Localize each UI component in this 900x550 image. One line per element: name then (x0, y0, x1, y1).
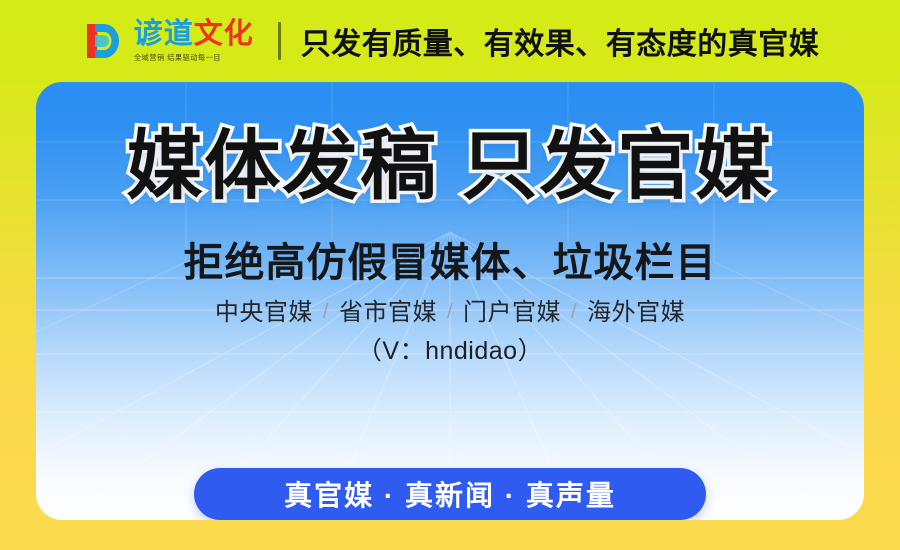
category-separator: / (571, 302, 577, 322)
media-category-item: 中央官媒 (215, 301, 313, 325)
media-category-item: 省市官媒 (339, 301, 437, 325)
hero-card: 媒体发稿 只发官媒 拒绝高仿假冒媒体、垃圾栏目 中央官媒 / 省市官媒 / 门户… (36, 82, 864, 520)
contact-handle: （V：hndidao） (357, 339, 543, 364)
logo-name-part1: 谚道 (134, 18, 194, 50)
brand-logo: 谚道文化 全域营销 结果驱动每一目 (81, 19, 254, 63)
page-title: 媒体发稿 只发官媒 (126, 129, 773, 205)
logo-company-name: 谚道文化 (134, 20, 254, 49)
media-category-list: 中央官媒 / 省市官媒 / 门户官媒 / 海外官媒 (215, 301, 685, 325)
media-category-item: 门户官媒 (463, 301, 561, 325)
cta-button-label: 真官媒 · 真新闻 · 真声量 (284, 474, 616, 514)
media-category-item: 海外官媒 (587, 301, 685, 325)
hero-content: 媒体发稿 只发官媒 拒绝高仿假冒媒体、垃圾栏目 中央官媒 / 省市官媒 / 门户… (36, 82, 864, 520)
logo-wordmark: 谚道文化 全域营销 结果驱动每一目 (134, 20, 254, 62)
cta-button[interactable]: 真官媒 · 真新闻 · 真声量 (194, 468, 706, 520)
logo-d-mark-icon (81, 19, 125, 63)
poster-header: 谚道文化 全域营销 结果驱动每一目 只发有质量、有效果、有态度的真官媒 (0, 0, 900, 82)
category-separator: / (323, 302, 329, 322)
header-tagline: 只发有质量、有效果、有态度的真官媒 (301, 19, 820, 63)
promo-poster: 谚道文化 全域营销 结果驱动每一目 只发有质量、有效果、有态度的真官媒 (0, 0, 900, 550)
logo-name-part2: 文化 (194, 18, 254, 50)
cta-container: 真官媒 · 真新闻 · 真声量 (36, 468, 864, 520)
category-separator: / (447, 302, 453, 322)
logo-slogan: 全域营销 结果驱动每一目 (134, 54, 249, 61)
header-divider (278, 22, 281, 60)
hero-subheading: 拒绝高仿假冒媒体、垃圾栏目 (184, 243, 717, 283)
